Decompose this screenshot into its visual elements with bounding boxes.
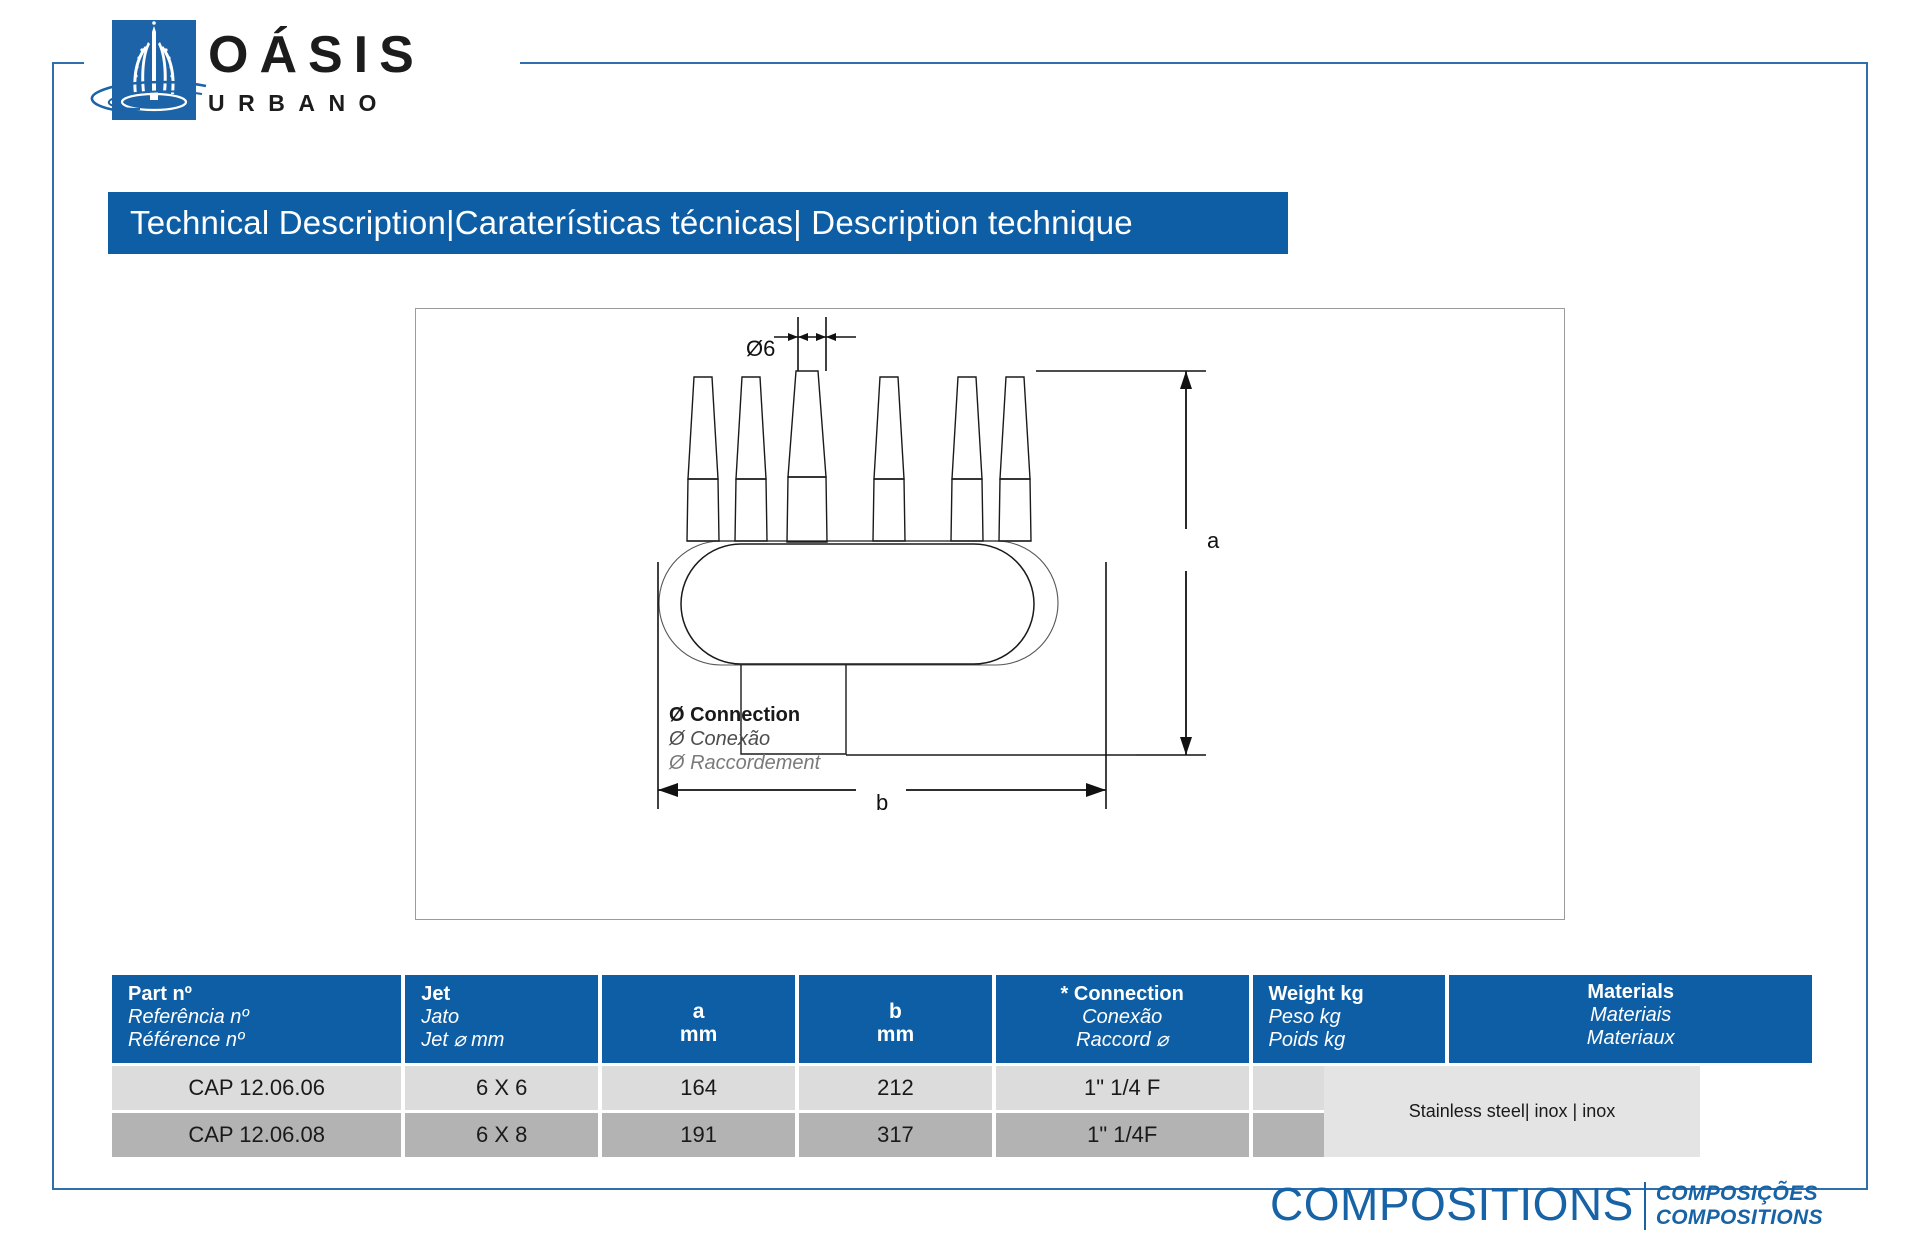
column-header-line3: Raccord ⌀ — [1002, 1029, 1243, 1052]
column-header-line1: Jet — [421, 983, 582, 1006]
column-header-line1: Materials — [1587, 981, 1675, 1004]
cell-a: 191 — [602, 1113, 795, 1157]
dimension-b-label: b — [868, 790, 896, 816]
brand-wordmark: OÁSIS URBANO — [208, 26, 425, 118]
page-frame-left — [52, 62, 54, 1190]
cell-b: 317 — [799, 1113, 992, 1157]
column-header-a: a mm — [602, 975, 795, 1063]
column-header-line3: Materiaux — [1587, 1027, 1675, 1050]
footer-sub-fr: COMPOSITIONS — [1656, 1206, 1823, 1230]
page-frame-top-right — [520, 62, 1868, 64]
cell-part-no: CAP 12.06.08 — [112, 1113, 401, 1157]
cell-connection: 1" 1/4F — [996, 1113, 1249, 1157]
cell-materials: Stainless steel| inox | inox — [1324, 1066, 1700, 1157]
column-header-connection: * Connection Conexão Raccord ⌀ — [996, 975, 1249, 1063]
product-drawing — [416, 309, 1564, 919]
connection-label-en: Ø Connection — [669, 704, 800, 727]
table-header-row: Part nº Referência nº Référence nº Jet J… — [112, 975, 1812, 1063]
footer-sub-pt: COMPOSIÇÕES — [1656, 1182, 1823, 1206]
cell-jet: 6 X 8 — [405, 1113, 598, 1157]
column-header-line3: Poids kg — [1269, 1029, 1430, 1052]
column-header-materials: Materials Materiais Materiaux — [1449, 975, 1812, 1063]
column-header-line1: a — [602, 1001, 795, 1023]
footer-main-label: COMPOSITIONS — [1270, 1178, 1634, 1230]
column-header-line2: Peso kg — [1269, 1006, 1430, 1029]
footer-divider — [1644, 1182, 1646, 1230]
brand-tagline: URBANO — [208, 88, 425, 118]
section-title-text: Technical Description|Caraterísticas téc… — [108, 204, 1133, 242]
column-header-line2: Materiais — [1587, 1004, 1675, 1027]
column-header-jet: Jet Jato Jet ⌀ mm — [405, 975, 598, 1063]
cell-jet: 6 X 6 — [405, 1066, 598, 1110]
section-title-banner: Technical Description|Caraterísticas téc… — [108, 192, 1288, 254]
footer-compositions: COMPOSITIONS COMPOSIÇÕES COMPOSITIONS — [1270, 1178, 1823, 1230]
cell-connection: 1" 1/4 F — [996, 1066, 1249, 1110]
column-header-line3: Jet ⌀ mm — [421, 1029, 582, 1052]
document-page: OÁSIS URBANO Technical Description|Carat… — [0, 0, 1920, 1254]
column-header-line1: Part nº — [128, 983, 385, 1006]
brand-logo: OÁSIS URBANO — [112, 20, 512, 125]
column-header-line2: Jato — [421, 1006, 582, 1029]
column-header-weight: Weight kg Peso kg Poids kg — [1253, 975, 1446, 1063]
column-header-line2: mm — [799, 1023, 992, 1046]
fountain-basin-swoosh — [82, 78, 212, 118]
technical-drawing-panel: Ø6 a b Ø Connection Ø Conexão Ø Raccorde… — [415, 308, 1565, 920]
page-frame-right — [1866, 62, 1868, 1190]
column-header-line1: * Connection — [1002, 983, 1243, 1006]
jet-diameter-label: Ø6 — [746, 336, 775, 362]
brand-name: OÁSIS — [208, 26, 425, 84]
cell-a: 164 — [602, 1066, 795, 1110]
column-header-b: b mm — [799, 975, 992, 1063]
column-header-line1: b — [799, 1001, 992, 1023]
column-header-line2: mm — [602, 1023, 795, 1046]
column-header-line1: Weight kg — [1269, 983, 1430, 1006]
dimension-a-label: a — [1203, 526, 1223, 556]
column-header-line3: Référence nº — [128, 1029, 385, 1052]
column-header-part-no: Part nº Referência nº Référence nº — [112, 975, 401, 1063]
connection-label-pt: Ø Conexão — [669, 728, 770, 751]
cell-part-no: CAP 12.06.06 — [112, 1066, 401, 1110]
page-frame-top-left — [52, 62, 84, 64]
column-header-line2: Referência nº — [128, 1006, 385, 1029]
cell-b: 212 — [799, 1066, 992, 1110]
connection-label-fr: Ø Raccordement — [669, 752, 820, 775]
column-header-line2: Conexão — [1002, 1006, 1243, 1029]
